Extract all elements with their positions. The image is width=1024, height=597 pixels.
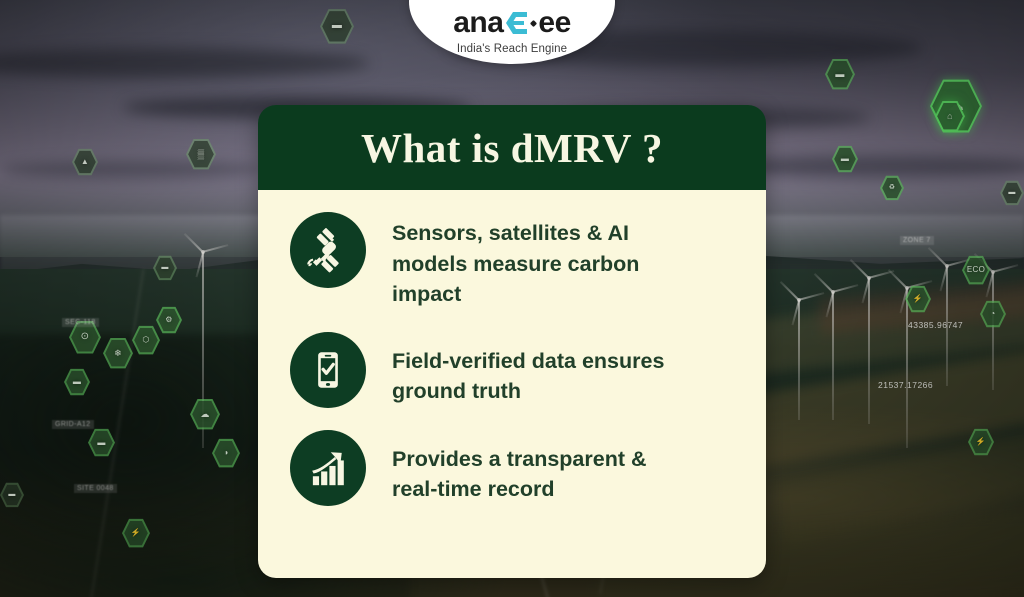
hud-hex-glyph: ▬ — [73, 378, 81, 386]
hud-hex-glyph: ▬ — [161, 264, 168, 271]
hud-hex-glyph: ⚙ — [165, 316, 172, 324]
hud-hex-node: ◑ — [212, 438, 240, 468]
wind-turbine — [792, 300, 806, 420]
hud-hex-glyph: ☁ — [200, 410, 209, 419]
hud-hex-node: ▬ — [0, 482, 24, 508]
hud-hex-glyph: ❄ — [114, 349, 122, 358]
hud-hex-node: ▬ — [64, 368, 90, 396]
feature-item: Field-verified data ensures ground truth — [290, 332, 740, 408]
hud-hex-glyph: ◔ — [990, 310, 995, 318]
card-body: Sensors, satellites & AI models measure … — [258, 190, 766, 578]
brand-name-part1: ana — [453, 8, 503, 38]
hud-hex-glyph: ECO — [967, 266, 985, 274]
hud-hex-node: ▬ — [1000, 180, 1024, 206]
hud-hex-node: ▬ — [825, 58, 855, 90]
hud-hex-glyph: ⚡ — [131, 529, 141, 537]
hud-label-tag: SEC-118 — [62, 318, 99, 327]
page-title: What is dMRV ? — [361, 124, 663, 172]
hud-hex-glyph: ⬡ — [142, 336, 149, 344]
mobile-check-icon — [290, 332, 366, 408]
turbine-mast — [868, 278, 870, 424]
wind-turbine — [862, 278, 876, 424]
wind-turbine — [826, 292, 840, 420]
infographic-canvas: ▬▒▲⊙❄⬡▬▬▬⚡▬⚙☁◑▬☁⌂▬♻⚡◔ECO⚡▬GRID-A12SITE 0… — [0, 0, 1024, 597]
hud-hex-glyph: ⊙ — [81, 332, 90, 342]
hud-hex-node: ⚡ — [122, 518, 150, 548]
turbine-mast — [832, 292, 834, 420]
brand-wordmark: ana ee — [453, 8, 571, 38]
hud-label-tag: SITE 0048 — [74, 484, 117, 493]
hud-hex-node: ☁ — [190, 398, 220, 430]
brand-name-part2: ee — [538, 8, 570, 38]
hud-hex-node: ⚡ — [968, 428, 994, 456]
hud-hex-glyph: ▬ — [1008, 189, 1015, 196]
hud-hex-node: ⚙ — [156, 306, 182, 334]
hud-hex-glyph: ▬ — [332, 21, 342, 31]
hud-hex-glyph: ⌂ — [947, 112, 953, 121]
hud-label-tag: GRID-A12 — [52, 420, 94, 429]
hud-label-tag: ZONE 7 — [900, 236, 934, 245]
wind-turbine — [986, 272, 1000, 390]
hud-hex-glyph: ▬ — [8, 491, 15, 498]
card-header: What is dMRV ? — [258, 105, 766, 190]
hud-hex-glyph: ▬ — [835, 70, 844, 79]
satellite-icon — [290, 212, 366, 288]
hud-hex-node: ⚡ — [905, 285, 931, 313]
anaee-epsilon-mark — [504, 10, 530, 36]
feature-label: Field-verified data ensures ground truth — [392, 332, 692, 407]
dmrv-info-card: What is dMRV ? — [258, 105, 766, 578]
cloud — [0, 48, 369, 78]
hud-hex-node: ❄ — [103, 337, 133, 369]
feature-label: Sensors, satellites & AI models measure … — [392, 212, 692, 310]
hud-hex-node: ▬ — [832, 145, 858, 173]
turbine-mast — [992, 272, 994, 390]
hud-hex-glyph: ▬ — [841, 155, 849, 163]
brand-tagline: India's Reach Engine — [457, 43, 567, 55]
feature-label: Provides a transparent & real-time recor… — [392, 430, 692, 505]
hud-hex-node: ▬ — [320, 8, 354, 45]
hud-hex-glyph: ⚡ — [913, 295, 923, 303]
hud-coordinate-readout: 21537.17266 — [878, 380, 933, 390]
hud-hex-node: ⌂ — [935, 100, 965, 132]
hud-hex-glyph: ▲ — [81, 158, 89, 166]
hud-hex-node: ◔ — [980, 300, 1006, 328]
cloud — [0, 161, 266, 179]
hud-hex-glyph: ▒ — [198, 150, 205, 159]
feature-item: Sensors, satellites & AI models measure … — [290, 212, 740, 310]
hud-hex-node: ▒ — [186, 138, 216, 170]
hud-hex-glyph: ▬ — [97, 439, 105, 447]
hud-hex-node: ▬ — [153, 255, 177, 281]
hud-hex-node: ▲ — [72, 148, 98, 176]
hud-hex-node: ▬ — [88, 428, 115, 457]
hud-hex-glyph: ◑ — [223, 449, 228, 457]
growth-chart-icon — [290, 430, 366, 506]
diamond-dot-icon — [530, 19, 537, 26]
hud-hex-glyph: ⚡ — [976, 438, 986, 446]
hud-hex-glyph: ♻ — [889, 184, 896, 191]
hud-hex-node: ♻ — [880, 175, 904, 201]
hud-hex-node: ECO — [962, 255, 990, 285]
turbine-mast — [798, 300, 800, 420]
hud-coordinate-readout: 43385.96747 — [908, 320, 963, 330]
feature-item: Provides a transparent & real-time recor… — [290, 430, 740, 506]
